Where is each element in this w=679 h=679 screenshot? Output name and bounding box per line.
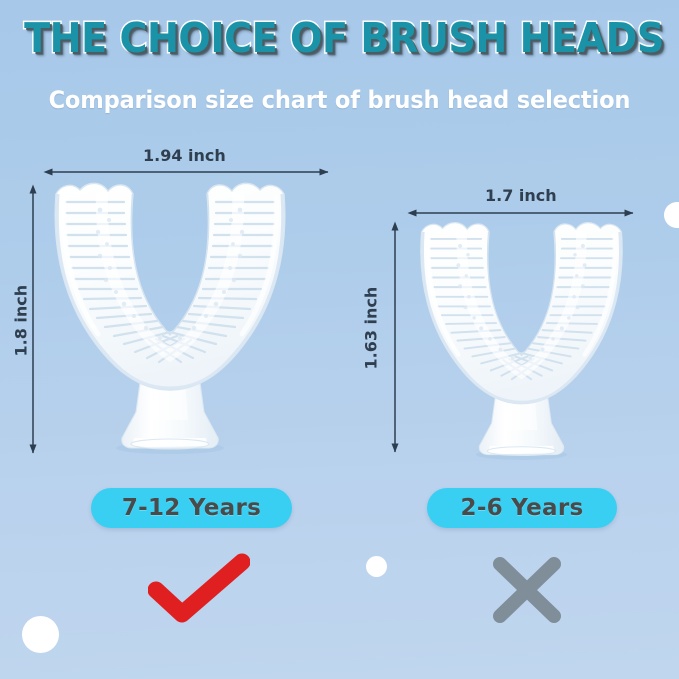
page-subtitle: Comparison size chart of brush head sele… bbox=[49, 86, 631, 114]
page-title: THE CHOICE OF BRUSH HEADS bbox=[24, 14, 664, 62]
product-image-small-brush-head bbox=[404, 216, 639, 460]
width-label-small: 1.7 inch bbox=[485, 186, 557, 205]
age-badge-small[interactable]: 2-6 Years bbox=[427, 488, 617, 528]
title-container: THE CHOICE OF BRUSH HEADS bbox=[0, 14, 679, 62]
decorative-circle-bottom-left bbox=[22, 616, 59, 653]
check-icon bbox=[148, 552, 250, 626]
width-label-large: 1.94 inch bbox=[143, 146, 226, 165]
subtitle-container: Comparison size chart of brush head sele… bbox=[0, 86, 679, 114]
height-label-large: 1.8 inch bbox=[12, 287, 31, 357]
decorative-circle-right-edge bbox=[664, 202, 679, 228]
height-label-small: 1.63 inch bbox=[362, 294, 381, 370]
cross-icon bbox=[488, 554, 566, 626]
age-badge-large[interactable]: 7-12 Years bbox=[91, 488, 292, 528]
decorative-circle-middle bbox=[366, 556, 387, 577]
brush-head-comparison-poster: THE CHOICE OF BRUSH HEADS Comparison siz… bbox=[0, 0, 679, 679]
product-image-large-brush-head bbox=[36, 176, 304, 454]
